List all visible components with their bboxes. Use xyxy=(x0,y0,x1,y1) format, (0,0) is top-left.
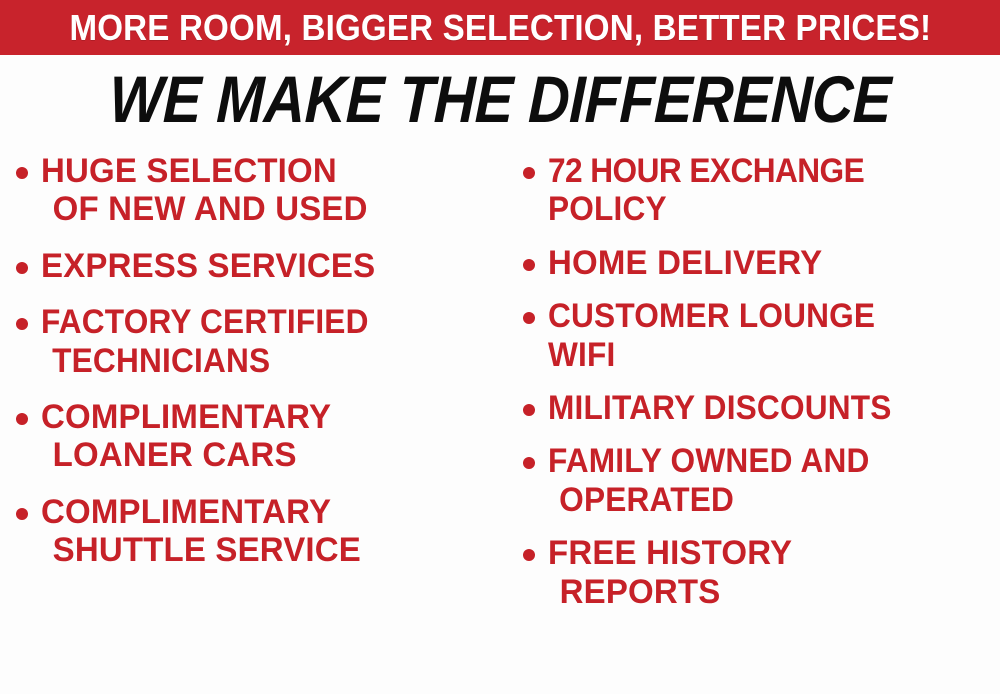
features-columns: HUGE SELECTION OF NEW AND USED EXPRESS S… xyxy=(0,152,1000,694)
feature-item: MILITARY DISCOUNTS xyxy=(523,389,1000,427)
feature-label: FACTORY CERTIFIED TECHNICIANS xyxy=(41,303,369,380)
bullet-dot-icon xyxy=(16,508,28,520)
bullet-dot-icon xyxy=(16,262,28,274)
bullet-dot-icon xyxy=(16,167,28,179)
feature-item: 72 HOUR EXCHANGE POLICY xyxy=(523,152,1000,229)
feature-label-line: LOANER CARS xyxy=(41,436,331,474)
feature-item: CUSTOMER LOUNGE WIFI xyxy=(523,297,1000,374)
feature-label: CUSTOMER LOUNGE WIFI xyxy=(548,297,875,374)
feature-label: HUGE SELECTION OF NEW AND USED xyxy=(41,152,368,229)
feature-label-line: MILITARY DISCOUNTS xyxy=(548,389,892,427)
feature-label-line: HUGE SELECTION xyxy=(41,152,368,190)
feature-item: HOME DELIVERY xyxy=(523,244,1000,282)
feature-label-line: REPORTS xyxy=(548,573,792,611)
feature-label-line: FACTORY CERTIFIED xyxy=(41,303,369,341)
bullet-dot-icon xyxy=(523,404,535,416)
feature-label-line: FAMILY OWNED AND xyxy=(548,442,870,480)
feature-label-line: TECHNICIANS xyxy=(41,342,369,380)
feature-label-line: WIFI xyxy=(548,336,875,374)
feature-label-line: POLICY xyxy=(548,190,864,228)
bullet-dot-icon xyxy=(523,549,535,561)
feature-label-line: HOME DELIVERY xyxy=(548,244,822,282)
feature-label: HOME DELIVERY xyxy=(548,244,822,282)
feature-label-line: FREE HISTORY xyxy=(548,534,792,572)
feature-item: FAMILY OWNED AND OPERATED xyxy=(523,442,1000,519)
bullet-dot-icon xyxy=(16,413,28,425)
feature-label-line: EXPRESS SERVICES xyxy=(41,247,375,285)
bullet-dot-icon xyxy=(523,167,535,179)
feature-item: COMPLIMENTARY LOANER CARS xyxy=(16,398,501,475)
top-banner-strip: MORE ROOM, BIGGER SELECTION, BETTER PRIC… xyxy=(0,0,1000,55)
feature-label-line: OF NEW AND USED xyxy=(41,190,368,228)
feature-item: COMPLIMENTARY SHUTTLE SERVICE xyxy=(16,493,501,570)
bullet-dot-icon xyxy=(523,259,535,271)
feature-item: FREE HISTORY REPORTS xyxy=(523,534,1000,611)
feature-label: 72 HOUR EXCHANGE POLICY xyxy=(548,152,864,229)
feature-label-line: COMPLIMENTARY xyxy=(41,398,331,436)
feature-label: COMPLIMENTARY SHUTTLE SERVICE xyxy=(41,493,361,570)
main-headline: WE MAKE THE DIFFERENCE xyxy=(108,66,892,133)
feature-item: EXPRESS SERVICES xyxy=(16,247,501,285)
bullet-dot-icon xyxy=(16,318,28,330)
headline-container: WE MAKE THE DIFFERENCE xyxy=(0,66,1000,133)
feature-label-line: OPERATED xyxy=(548,481,870,519)
feature-item: FACTORY CERTIFIED TECHNICIANS xyxy=(16,303,501,380)
feature-item: HUGE SELECTION OF NEW AND USED xyxy=(16,152,501,229)
bullet-dot-icon xyxy=(523,457,535,469)
promotional-banner: MORE ROOM, BIGGER SELECTION, BETTER PRIC… xyxy=(0,0,1000,694)
feature-label-line: SHUTTLE SERVICE xyxy=(41,531,361,569)
feature-label: MILITARY DISCOUNTS xyxy=(548,389,892,427)
feature-label-line: CUSTOMER LOUNGE xyxy=(548,297,875,335)
bullet-dot-icon xyxy=(523,312,535,324)
feature-label: EXPRESS SERVICES xyxy=(41,247,375,285)
feature-label: COMPLIMENTARY LOANER CARS xyxy=(41,398,331,475)
feature-label-line: COMPLIMENTARY xyxy=(41,493,361,531)
top-banner-headline: MORE ROOM, BIGGER SELECTION, BETTER PRIC… xyxy=(69,10,931,46)
feature-label-line: 72 HOUR EXCHANGE xyxy=(548,152,864,190)
features-column-left: HUGE SELECTION OF NEW AND USED EXPRESS S… xyxy=(0,152,505,694)
feature-label: FREE HISTORY REPORTS xyxy=(548,534,792,611)
feature-label: FAMILY OWNED AND OPERATED xyxy=(548,442,870,519)
features-column-right: 72 HOUR EXCHANGE POLICY HOME DELIVERY CU… xyxy=(505,152,1000,694)
